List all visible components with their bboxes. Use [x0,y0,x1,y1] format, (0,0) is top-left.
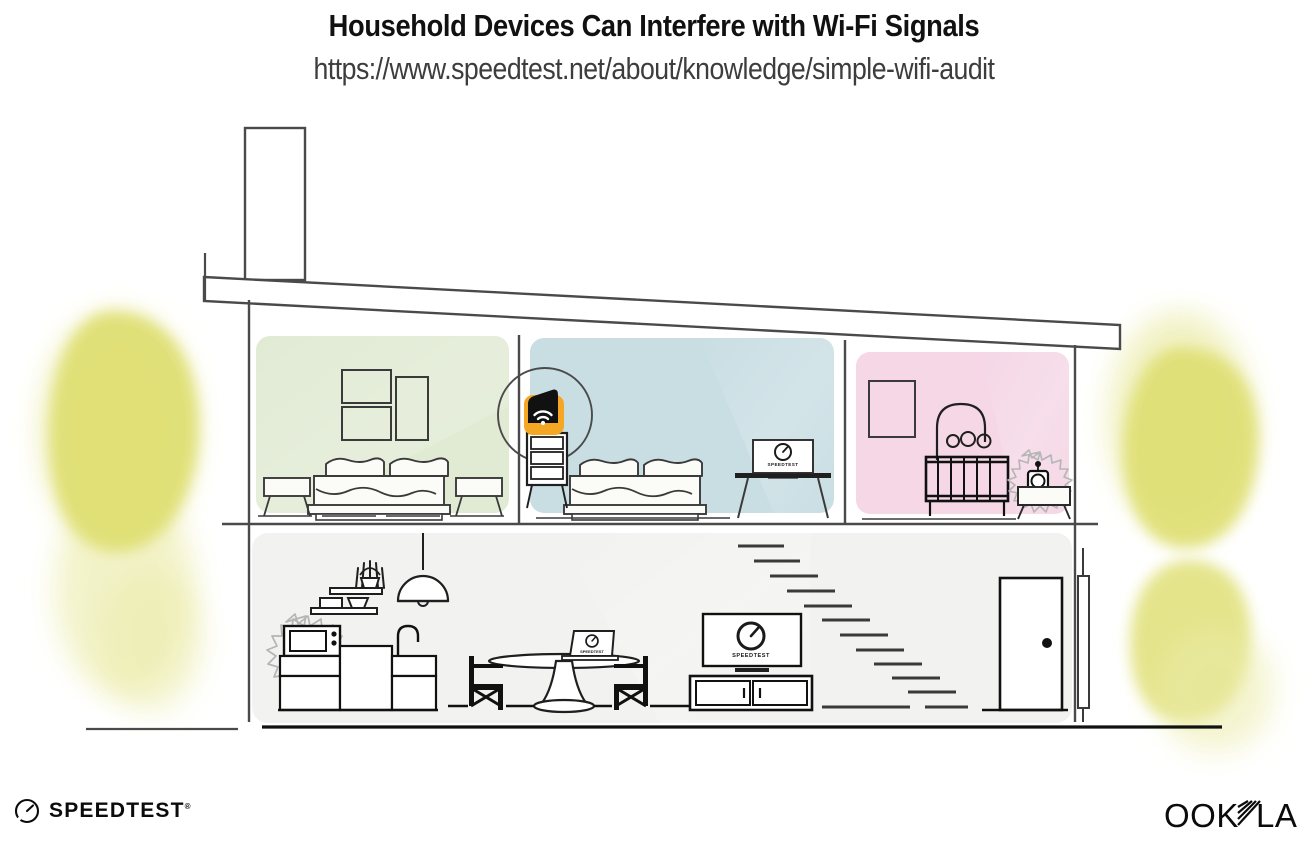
footer-ookla-logo[interactable]: OOK LA [1164,795,1308,839]
speedometer-icon [14,798,40,824]
footer-speedtest-logo[interactable]: SPEEDTEST® [14,798,191,824]
foliage-left [40,312,202,712]
door-knob-icon [1042,638,1052,648]
bed-green-bedroom [308,458,450,520]
media-console [690,676,812,710]
room-bedroom-blue: SPEEDTEST [530,338,834,520]
wifi-router[interactable] [524,390,564,435]
ookla-logo-mark: OOK LA [1164,795,1308,839]
room-bedroom-green [256,336,512,520]
chimney [245,128,305,280]
speedtest-trademark: ® [185,802,191,811]
tv-screen-logo-text: SPEEDTEST [732,653,770,659]
monitor-screen-logo-text: SPEEDTEST [768,462,799,467]
foliage-right [1108,312,1273,752]
house-cutaway-illustration: SPEEDTEST [0,0,1308,861]
roof [204,253,1120,349]
speedtest-wordmark: SPEEDTEST® [49,799,191,823]
room-nursery-pink [856,352,1072,519]
sidelight-window [1078,548,1089,722]
ookla-wordmark-text: OOK [1164,797,1239,834]
bed-blue-bedroom [564,459,706,520]
desk-monitor[interactable]: SPEEDTEST [753,440,813,479]
ookla-wordmark-text-2: LA [1256,797,1297,834]
laptop-screen-logo-text: SPEEDTEST [580,649,604,654]
speedtest-wordmark-text: SPEEDTEST [49,799,185,822]
living-room-tv[interactable]: SPEEDTEST [703,614,801,672]
